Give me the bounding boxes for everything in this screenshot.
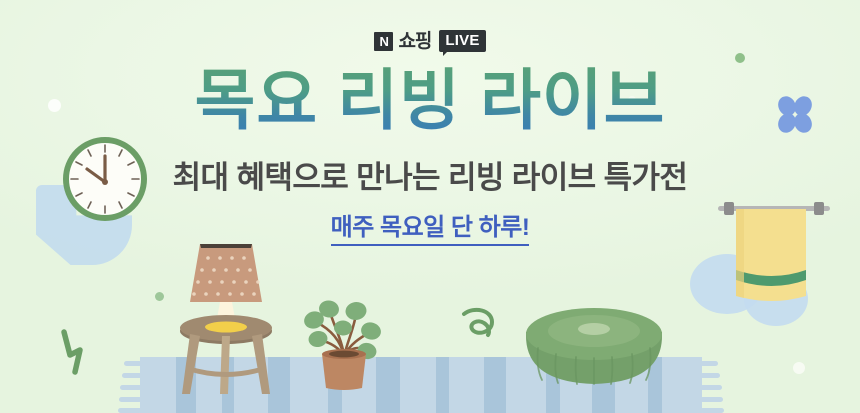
logo-brand-label: 쇼핑 xyxy=(398,32,431,51)
table-lamp-on-stool xyxy=(168,236,284,396)
subtitle: 최대 혜택으로 만나는 리빙 라이브 특가전 xyxy=(0,152,860,197)
schedule-note-wrap: 매주 목요일 단 하루! xyxy=(0,207,860,246)
green-dot xyxy=(735,53,745,63)
schedule-note: 매주 목요일 단 하루! xyxy=(331,207,530,246)
live-badge: LIVE xyxy=(439,30,485,52)
shopping-live-logo: N 쇼핑 LIVE xyxy=(0,30,860,52)
round-pouf xyxy=(520,302,668,388)
white-dot xyxy=(793,362,805,374)
page-title: 목요 리빙 라이브 xyxy=(0,66,860,135)
green-curl-doodle xyxy=(458,302,502,351)
potted-plant xyxy=(300,284,388,394)
live-shopping-promo-banner: N 쇼핑 LIVE 목요 리빙 라이브 최대 혜택으로 만나는 리빙 라이브 특… xyxy=(0,0,860,413)
naver-n-icon: N xyxy=(374,32,393,51)
green-dot xyxy=(155,292,164,301)
green-zigzag-doodle xyxy=(58,328,98,381)
